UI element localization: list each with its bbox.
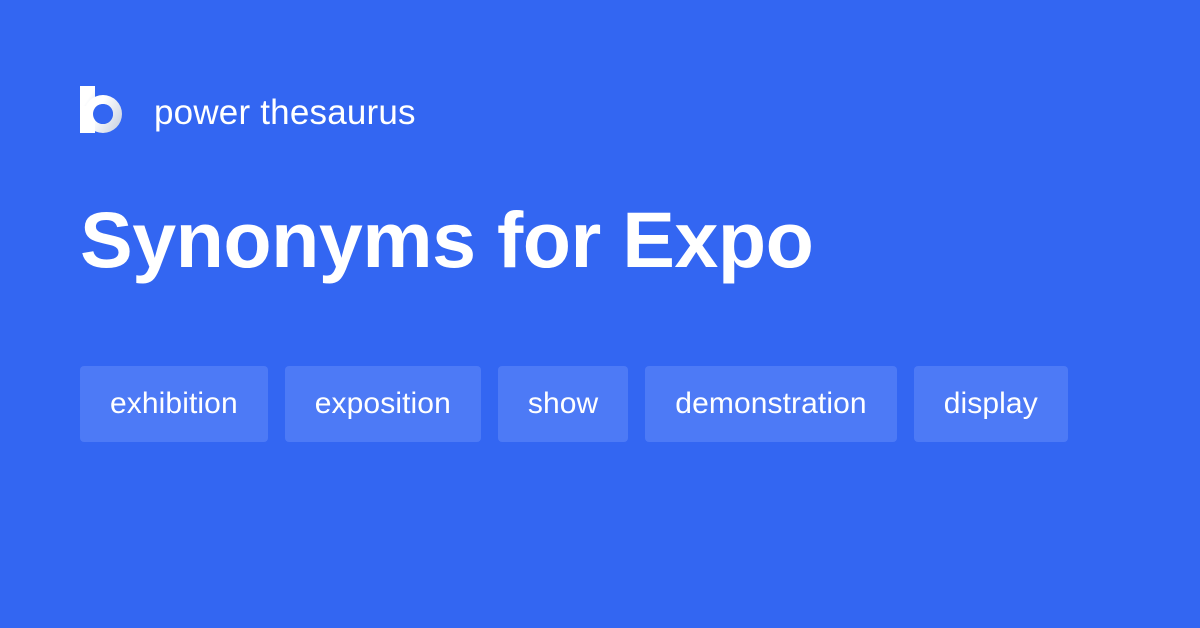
synonym-chip[interactable]: exhibition [80, 366, 268, 442]
synonym-chip[interactable]: show [498, 366, 628, 442]
page-title: Synonyms for Expo [80, 199, 813, 282]
synonym-chip[interactable]: demonstration [645, 366, 896, 442]
share-card: power thesaurus Synonyms for Expo exhibi… [0, 0, 1200, 628]
power-thesaurus-logo-icon [80, 86, 126, 136]
synonym-chip[interactable]: exposition [285, 366, 481, 442]
synonym-chip-list: exhibition exposition show demonstration… [80, 366, 1120, 442]
synonym-chip[interactable]: display [914, 366, 1068, 442]
brand-lockup[interactable]: power thesaurus [80, 82, 416, 140]
brand-name: power thesaurus [154, 95, 416, 130]
